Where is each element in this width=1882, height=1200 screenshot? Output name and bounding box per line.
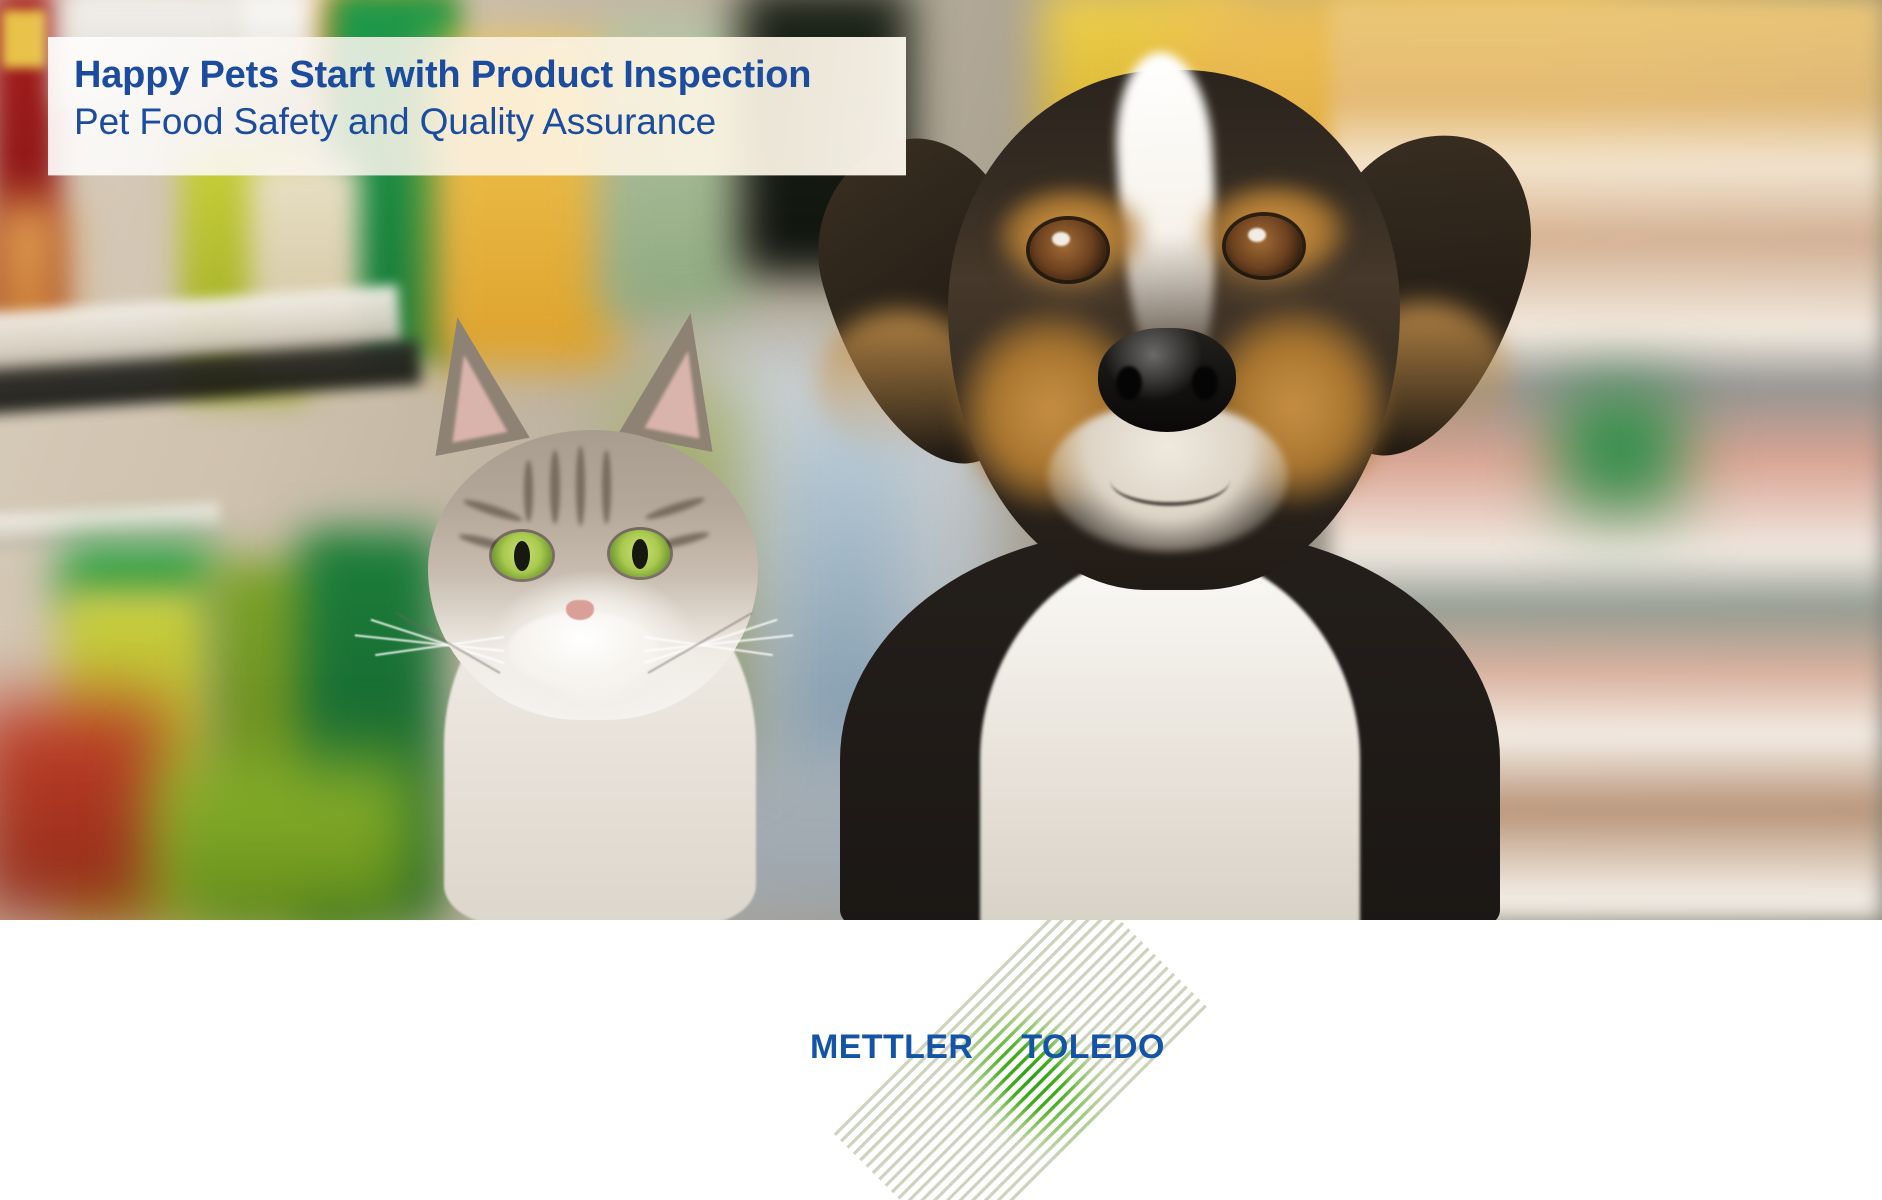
product-row-lower-left <box>0 700 170 920</box>
logo-stripes-svg <box>780 920 1300 1200</box>
dog-nostril-left <box>1116 366 1142 400</box>
dog-nose <box>1098 328 1236 432</box>
page-title: Happy Pets Start with Product Inspection <box>74 53 896 97</box>
dog-eye-highlight-right <box>1248 228 1266 242</box>
cat-eye-right <box>610 530 670 577</box>
title-banner: Happy Pets Start with Product Inspection… <box>48 37 906 175</box>
dog-eye-highlight-left <box>1052 232 1070 246</box>
cat-muzzle <box>508 612 658 688</box>
cat-nose <box>566 600 594 620</box>
hero-image: Happy Pets Start with Product Inspection… <box>0 0 1882 920</box>
background-shelf-right-green <box>1560 390 1680 510</box>
product-row-lower-green <box>160 760 420 920</box>
cat-forehead-stripe <box>524 460 533 522</box>
cat-forehead-stripe <box>602 450 611 524</box>
mettler-toledo-logo: METTLER TOLEDO <box>780 920 1300 1200</box>
dog-eye-left <box>1030 220 1106 280</box>
cat <box>400 300 800 920</box>
cat-forehead-stripe <box>550 450 560 524</box>
footer: METTLER TOLEDO <box>0 920 1882 1200</box>
dog-eye-right <box>1226 216 1302 276</box>
logo-band <box>780 920 1300 1200</box>
title-banner-inner: Happy Pets Start with Product Inspection… <box>74 53 896 144</box>
dog-nostril-right <box>1192 366 1218 400</box>
cat-eye-left <box>492 532 552 579</box>
cat-pupil-left <box>514 541 530 571</box>
cat-pupil-right <box>632 539 648 569</box>
cat-forehead-stripe <box>576 446 585 526</box>
logo-stripe-graphic <box>780 920 1300 1200</box>
page-subtitle: Pet Food Safety and Quality Assurance <box>74 100 896 144</box>
product-package-label-yellow <box>2 10 46 68</box>
page-root: Happy Pets Start with Product Inspection… <box>0 0 1882 1200</box>
